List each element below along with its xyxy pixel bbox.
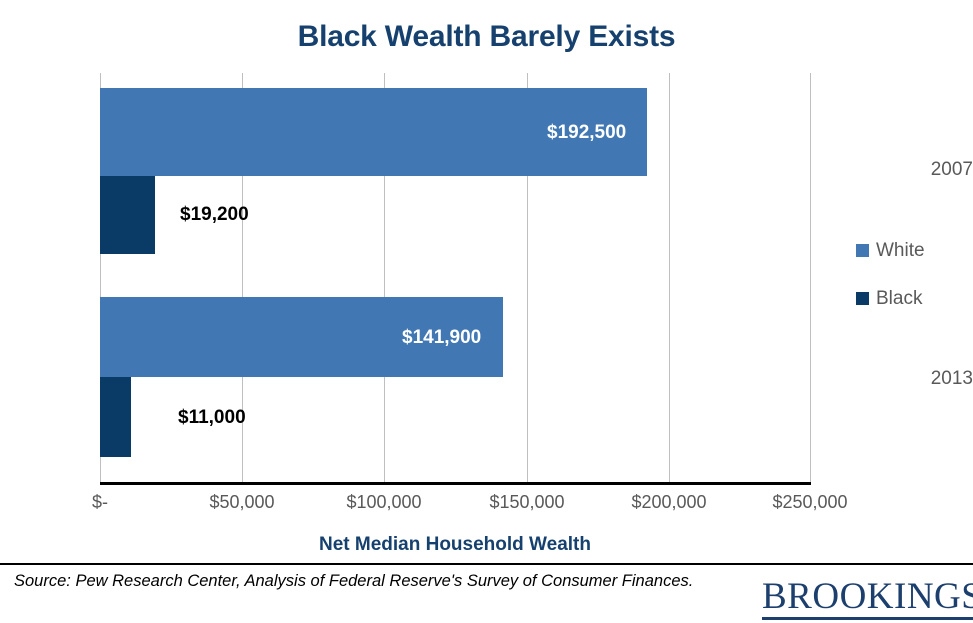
legend-label-white: White xyxy=(876,241,925,260)
plot-area: $192,500 $19,200 $141,900 $11,000 xyxy=(100,73,810,482)
brookings-logo-underline xyxy=(762,617,973,620)
x-tick-250000: $250,000 xyxy=(772,492,847,513)
bar-black-2013[interactable] xyxy=(100,377,131,457)
legend-swatch-white-icon xyxy=(856,244,869,257)
x-axis-title: Net Median Household Wealth xyxy=(100,534,810,556)
category-label-2013: 2013 xyxy=(881,368,973,390)
brookings-logo: BROOKINGS xyxy=(762,578,973,615)
legend-swatch-black-icon xyxy=(856,292,869,305)
x-tick-100000: $100,000 xyxy=(346,492,421,513)
bar-label-black-2013: $11,000 xyxy=(178,407,246,429)
category-label-2007: 2007 xyxy=(881,159,973,181)
gridline-250000 xyxy=(810,73,811,482)
x-axis-line xyxy=(100,482,811,485)
bar-label-black-2007: $19,200 xyxy=(180,204,249,226)
legend-label-black: Black xyxy=(876,289,922,308)
bar-label-white-2013: $141,900 xyxy=(402,327,481,349)
legend-item-white[interactable]: White xyxy=(856,238,966,262)
legend-item-black[interactable]: Black xyxy=(856,286,966,310)
legend: White Black xyxy=(856,238,966,334)
bar-black-2007[interactable] xyxy=(100,176,155,254)
chart-container: Black Wealth Barely Exists $192,500 $19,… xyxy=(0,0,973,623)
source-note: Source: Pew Research Center, Analysis of… xyxy=(14,570,734,592)
footer-divider xyxy=(0,563,973,565)
x-tick-0: $- xyxy=(92,492,108,513)
x-tick-150000: $150,000 xyxy=(489,492,564,513)
gridline-200000 xyxy=(669,73,670,482)
x-tick-50000: $50,000 xyxy=(209,492,274,513)
x-tick-200000: $200,000 xyxy=(631,492,706,513)
chart-title: Black Wealth Barely Exists xyxy=(0,20,973,54)
bar-label-white-2007: $192,500 xyxy=(547,122,626,144)
